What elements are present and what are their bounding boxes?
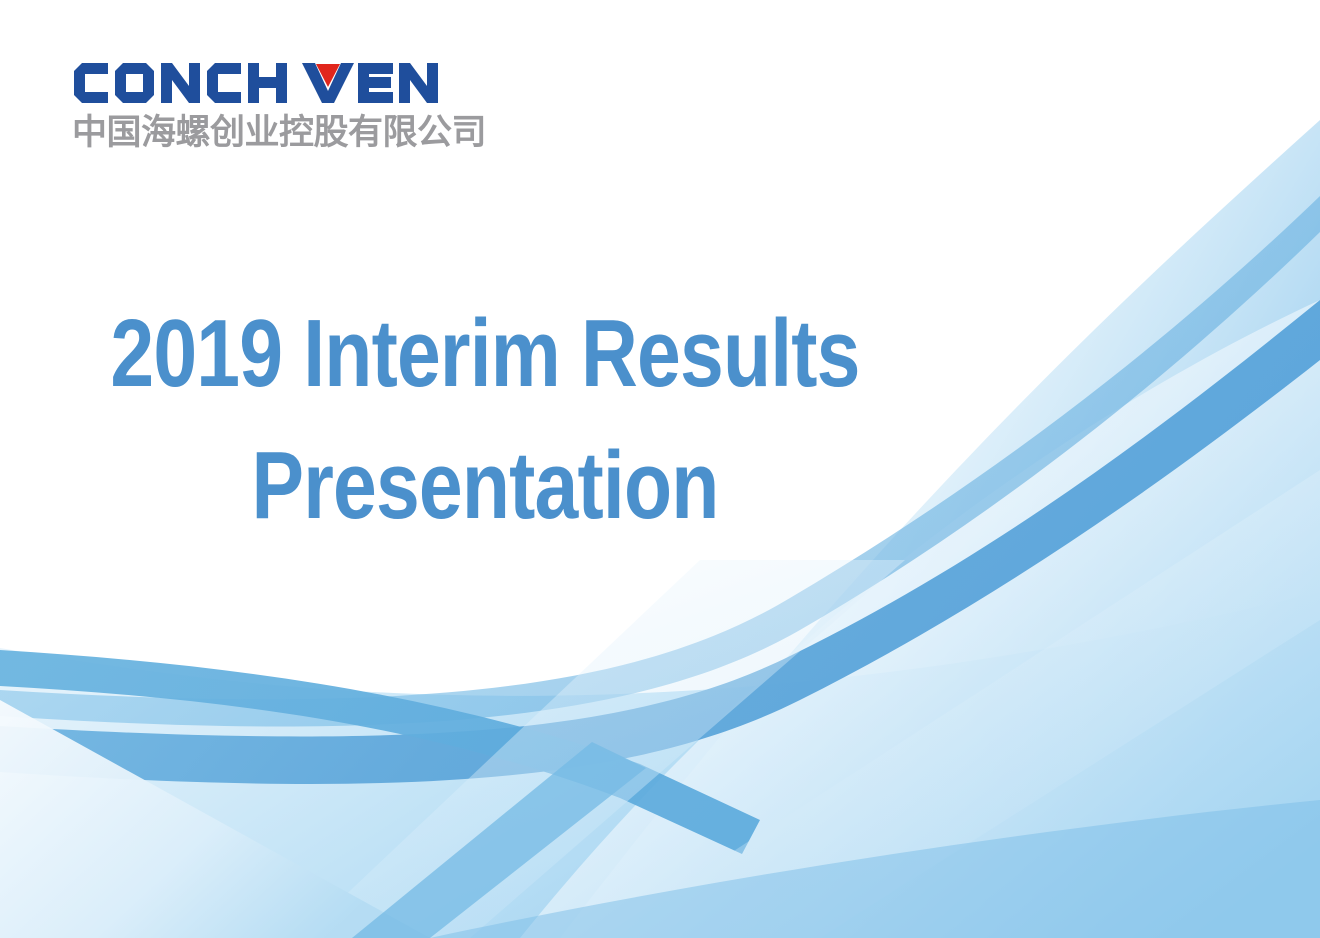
conch-venture-wordmark-icon — [72, 60, 467, 106]
company-logo: 中国海螺创业控股有限公司 — [72, 60, 492, 153]
company-name-chinese: 中国海螺创业控股有限公司 — [72, 113, 492, 153]
presentation-title-slide: 中国海螺创业控股有限公司 2019 Interim Results Presen… — [0, 0, 1320, 938]
